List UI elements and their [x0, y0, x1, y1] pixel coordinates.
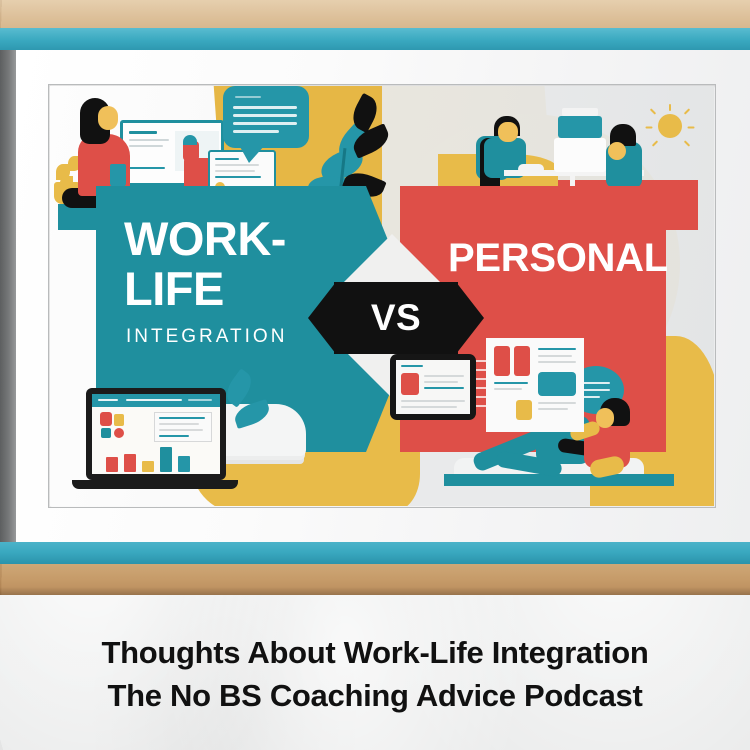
- chart-bar: [178, 456, 190, 472]
- bar-chart: [100, 446, 212, 472]
- sun-ray: [652, 140, 658, 146]
- episode-caption: Thoughts About Work-Life Integration The…: [0, 598, 750, 750]
- chart-bar: [160, 447, 172, 472]
- dashboard-icon: [114, 428, 124, 438]
- wood-shelf-bottom: [0, 563, 750, 595]
- dashboard-icon: [101, 428, 111, 438]
- laptop-base: [72, 480, 238, 489]
- sun-icon: [658, 114, 682, 138]
- dashboard-icon: [114, 414, 124, 426]
- chart-bar: [106, 457, 118, 472]
- poster-title-right: PERSONAL: [448, 236, 708, 280]
- sun-ray: [684, 140, 690, 146]
- plant-leaf-icon: [221, 368, 257, 407]
- sun-ray: [650, 108, 656, 114]
- person-face: [498, 122, 518, 142]
- bench: [444, 474, 674, 486]
- sun-ray: [688, 127, 695, 129]
- poster-photo-scene: WORK-LIFE INTEGRATION PERSONAL VS: [0, 0, 750, 750]
- chart-bar: [124, 454, 136, 472]
- computer-monitor-icon: [554, 138, 606, 172]
- paper-stack: [562, 108, 598, 116]
- illustration-leaves-accent: [212, 372, 292, 442]
- report-document-icon: [486, 338, 584, 432]
- sun-ray: [669, 104, 671, 111]
- chart-bar: [142, 461, 154, 472]
- tablet-icon: [390, 354, 476, 420]
- frame-teal-bottom-band: [0, 542, 750, 564]
- poster-artwork: WORK-LIFE INTEGRATION PERSONAL VS: [50, 86, 714, 506]
- illustration-tablet-and-report: [390, 354, 590, 454]
- laptop-screen: [92, 394, 220, 474]
- dashboard-text-card: [154, 412, 212, 442]
- caption-line-1: Thoughts About Work-Life Integration: [101, 633, 648, 673]
- sun-ray: [646, 127, 653, 129]
- vs-label: VS: [308, 282, 484, 354]
- dashboard-icon: [100, 412, 112, 426]
- person-face: [608, 142, 626, 160]
- vs-badge: VS: [308, 282, 484, 354]
- tablet-screen: [396, 360, 470, 414]
- coffee-cup-icon: [110, 164, 126, 188]
- sun-ray: [684, 108, 690, 114]
- caption-line-2: The No BS Coaching Advice Podcast: [108, 676, 643, 716]
- person-face: [98, 106, 118, 130]
- frame-teal-top-band: [0, 28, 750, 50]
- printer-icon: [558, 116, 602, 138]
